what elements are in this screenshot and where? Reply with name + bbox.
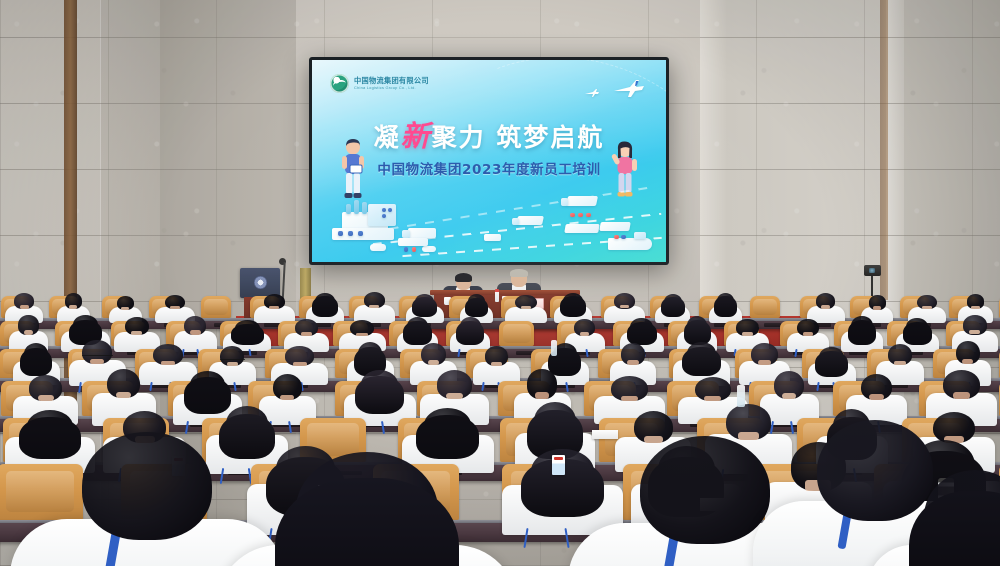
attendee xyxy=(480,344,513,381)
attendee-long-hair xyxy=(560,296,586,317)
attendee-glasses-icon xyxy=(82,355,113,359)
foreground-head xyxy=(82,432,211,540)
attendee-neck xyxy=(24,330,34,334)
foreground-attendee-5 xyxy=(900,470,1000,566)
attendee-neck xyxy=(782,393,796,399)
water-bottle-cap xyxy=(495,289,499,292)
attendee-neck xyxy=(821,305,830,309)
wood-door-trim-right xyxy=(880,0,888,300)
auditorium-seat xyxy=(499,321,534,346)
water-bottle xyxy=(737,385,745,407)
airplane-large-icon xyxy=(612,78,646,98)
attendee-neck xyxy=(131,331,142,335)
attendee xyxy=(847,314,877,349)
attendee xyxy=(511,293,541,320)
attendee-neck xyxy=(428,360,440,365)
company-name-en: China Logistics Group Co., Ltd. xyxy=(354,86,429,90)
attendee xyxy=(660,292,685,320)
attendee-neck xyxy=(627,360,638,365)
attendee xyxy=(559,291,586,320)
water-bottle xyxy=(551,340,557,356)
headline-part-1: 凝 xyxy=(374,123,401,152)
attendee-neck xyxy=(742,332,753,336)
attendee-long-hair xyxy=(661,297,685,317)
camera-lens-icon xyxy=(869,268,875,273)
attendee-neck xyxy=(491,362,502,367)
attendee-long-hair xyxy=(815,351,848,377)
attendee xyxy=(815,344,849,381)
company-logo-icon xyxy=(330,74,349,93)
attendee-neck xyxy=(116,392,132,399)
attendee-neck xyxy=(580,332,590,336)
conference-hall-photo: 中国物流集团有限公司 China Logistics Group Co., Lt… xyxy=(0,0,1000,566)
head-table-top xyxy=(430,290,580,295)
attendee-neck xyxy=(521,306,531,309)
attendee-long-hair xyxy=(682,347,721,377)
attendee-neck xyxy=(269,306,279,309)
attendee-neck xyxy=(69,305,77,308)
headline-part-2: 聚力 筑梦启航 xyxy=(432,123,605,152)
water-bottle-table xyxy=(495,291,499,302)
led-screen-content: 中国物流集团有限公司 China Logistics Group Co., Lt… xyxy=(312,60,666,262)
attendee-neck xyxy=(621,396,638,402)
attendee-long-hair xyxy=(465,298,488,317)
attendee-neck xyxy=(803,332,813,336)
airplane-small-icon xyxy=(584,88,600,98)
attendee-neck xyxy=(20,305,29,308)
company-name-cn: 中国物流集团有限公司 xyxy=(354,77,429,85)
attendee-neck xyxy=(969,330,980,334)
attendee-neck xyxy=(953,392,970,399)
attendee-neck xyxy=(301,332,312,336)
attendee-long-hair xyxy=(231,324,264,345)
milk-carton xyxy=(552,455,565,475)
led-screen: 中国物流集团有限公司 China Logistics Group Co., Lt… xyxy=(309,57,669,265)
attendee-neck xyxy=(90,359,104,364)
attendee-long-hair xyxy=(355,376,405,413)
attendee-neck xyxy=(356,333,368,337)
attendee xyxy=(260,292,290,320)
attendee-neck xyxy=(869,394,884,400)
attendee-neck xyxy=(962,359,973,364)
foreground-attendee-2 xyxy=(262,452,472,566)
lanyard-strap-right xyxy=(585,349,588,357)
attendee-long-hair xyxy=(312,296,338,317)
attendee-glasses-icon xyxy=(220,359,245,363)
attendee-neck xyxy=(280,395,294,401)
attendee xyxy=(360,291,390,321)
podium-emblem-icon xyxy=(254,276,267,289)
attendee-neck xyxy=(922,306,931,309)
headline-accent: 新 xyxy=(401,119,432,153)
attendee-neck xyxy=(38,395,54,401)
attendee-neck xyxy=(121,307,129,310)
attendee-long-hair xyxy=(714,296,737,317)
foreground-attendee-1 xyxy=(52,432,242,566)
attendee-neck xyxy=(758,360,770,365)
milk-carton-cap xyxy=(554,457,563,460)
foreground-head xyxy=(640,436,769,544)
lanyard-strap-right xyxy=(233,382,237,391)
isometric-logistics-illustration xyxy=(312,180,666,262)
company-logo: 中国物流集团有限公司 China Logistics Group Co., Lt… xyxy=(330,74,429,93)
attendee-neck xyxy=(190,330,201,334)
attendee-neck xyxy=(170,306,180,309)
attendee xyxy=(354,367,406,420)
attendee-neck xyxy=(446,393,463,399)
attendee-neck xyxy=(894,361,906,366)
attendee xyxy=(713,291,737,320)
attendee-neck xyxy=(873,306,881,309)
attendee-long-hair xyxy=(848,320,877,345)
attendee-neck xyxy=(293,362,307,366)
attendee-long-hair xyxy=(456,321,484,344)
auditorium-seat xyxy=(750,296,780,318)
attendee-neck xyxy=(161,361,175,366)
foreground-long-hair xyxy=(909,491,1000,566)
attendee-neck xyxy=(971,306,980,309)
desk-name-plate xyxy=(764,323,781,327)
